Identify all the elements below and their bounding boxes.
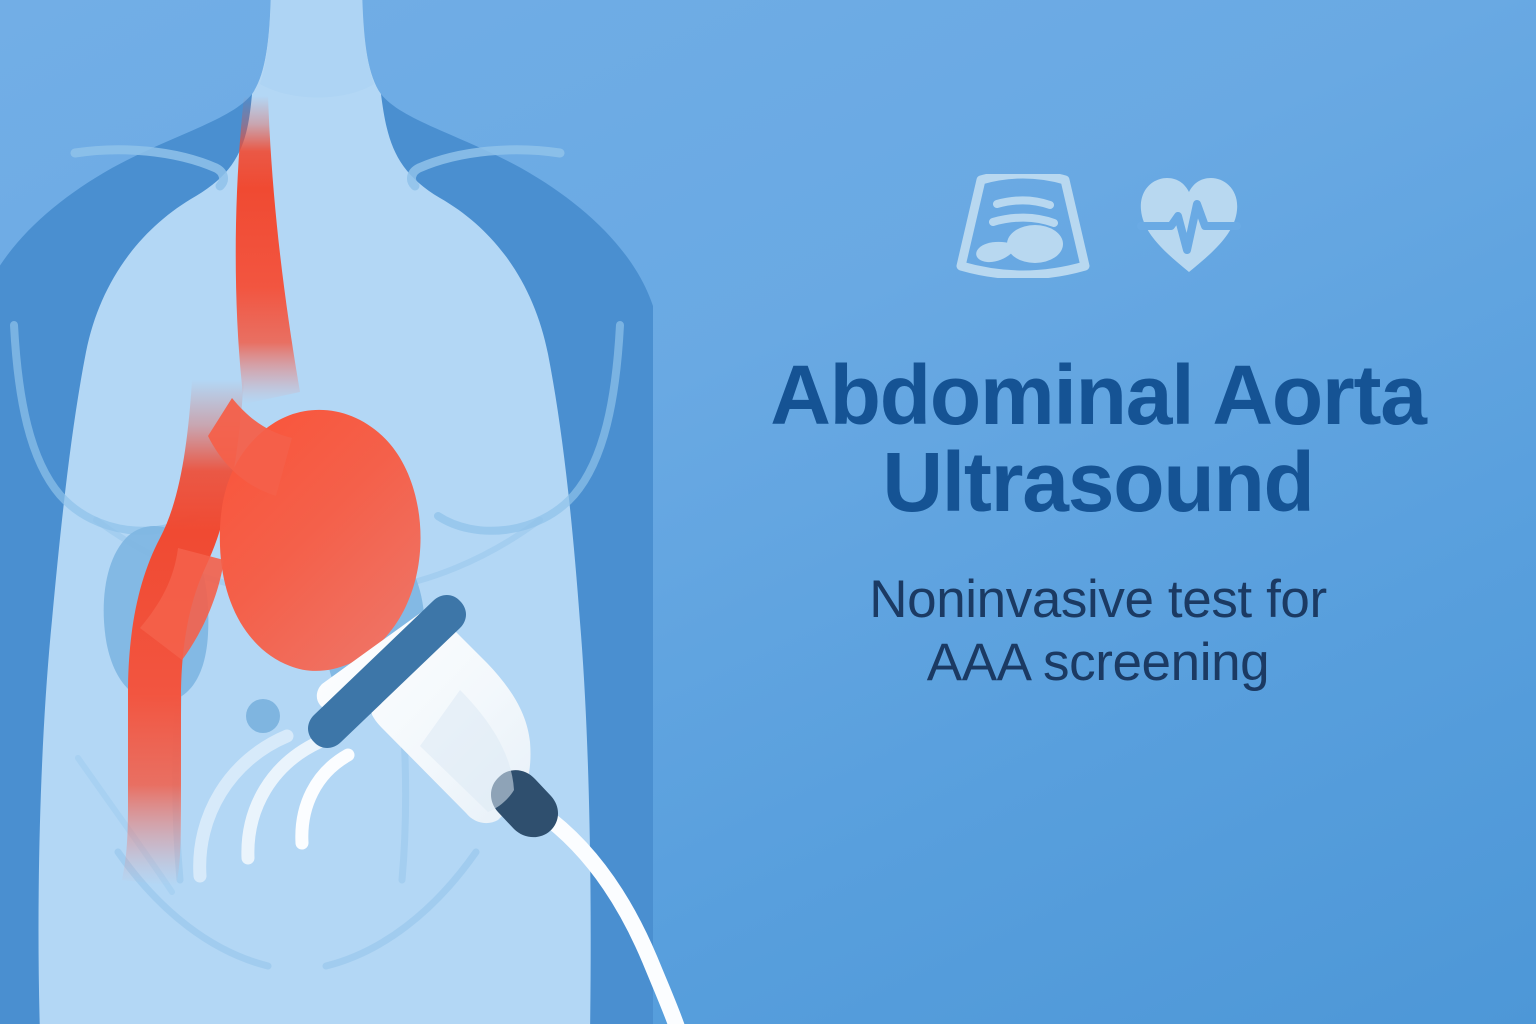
- icon-row: [955, 168, 1241, 284]
- text-column: Abdominal Aorta Ultrasound Noninvasive t…: [660, 0, 1536, 1024]
- subtitle-line-2: AAA screening: [718, 632, 1478, 695]
- title-line-1: Abdominal Aorta: [688, 352, 1508, 439]
- page-title: Abdominal Aorta Ultrasound: [688, 352, 1508, 525]
- poster-canvas: Abdominal Aorta Ultrasound Noninvasive t…: [0, 0, 1536, 1024]
- navel: [246, 699, 280, 733]
- ultrasound-scan-icon: [955, 174, 1091, 278]
- title-line-2: Ultrasound: [688, 439, 1508, 526]
- subtitle-line-1: Noninvasive test for: [718, 569, 1478, 632]
- heart-pulse-icon: [1137, 176, 1241, 276]
- page-subtitle: Noninvasive test for AAA screening: [718, 569, 1478, 694]
